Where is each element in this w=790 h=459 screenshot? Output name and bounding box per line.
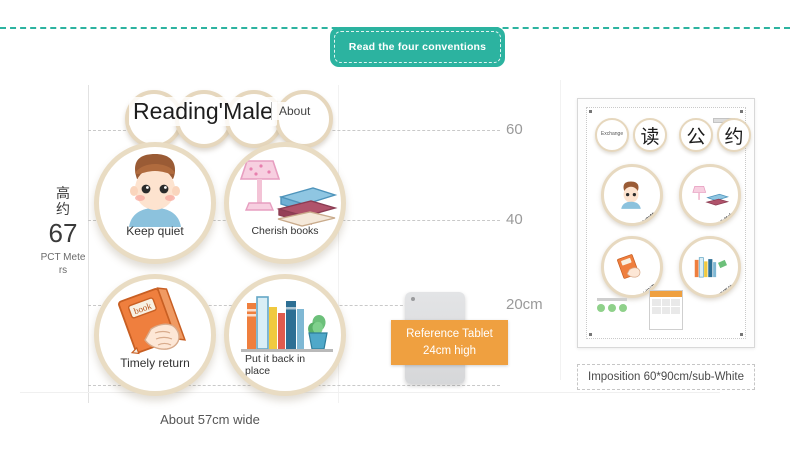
height-value: 67 [40,219,86,249]
poster-header-circle-3: 公 [679,118,713,152]
poster-footer-swatches [597,298,641,312]
thumbnail-cell [671,307,680,314]
poster-preview[interactable]: Exchange 读 公 约 保持安静 [577,98,755,348]
crop-mark-top-left [589,110,592,113]
bookshelf-plant-icon [229,285,341,359]
poster-title-band: Reading'Male About [95,88,335,136]
screenshot-root: Read the four conventions 60 40 20cm 高 约… [0,0,790,459]
badge-cherish-books[interactable]: Cherish books [224,142,346,264]
poster-badge-1: 保持安静 [601,164,663,226]
axis-tick-20: 20cm [506,296,543,313]
poster-header-circle-2: 读 [633,118,667,152]
panel-vertical-separator [560,80,561,380]
height-label-cn-1: 高 [40,185,86,201]
reference-tablet-badge: Reference Tablet 24cm high [391,320,508,365]
poster-caption: Imposition 60*90cm/sub-White [577,364,755,390]
boy-shushing-icon [610,175,652,215]
axis-tick-40: 40 [506,211,523,228]
height-measure-label: 高 约 67 PCT Meters [40,185,86,277]
badge-grid: Keep quiet Cherish books [92,142,352,392]
height-unit: PCT Meters [40,252,86,277]
height-label-cn-2: 约 [40,201,86,217]
chart-vertical-axis [88,85,89,403]
poster-badge-2: 爱惜书本 [679,164,741,226]
crop-mark-top-right [740,110,743,113]
poster-footer [597,290,747,330]
tablet-badge-line2: 24cm high [395,343,504,360]
swatch-row [597,304,641,312]
badge-put-back-in-place[interactable]: Put it back in place [224,274,346,396]
hand-holding-book-icon: book [99,285,211,359]
swatch-dot [608,304,616,312]
badge-caption: Timely return [99,357,211,371]
boy-shushing-icon [99,153,211,227]
swatch-bar [597,298,627,301]
thumbnail-cell [652,299,661,306]
thumbnail-cell [652,307,661,314]
poster-thumbnail-card [649,290,683,330]
width-caption: About 57cm wide [120,412,300,427]
chart-bottom-rule [20,392,720,393]
badge-caption: Keep quiet [99,225,211,239]
poster-header-circle-1: Exchange [595,118,629,152]
thumbnail-grid [650,297,682,316]
read-four-conventions-button[interactable]: Read the four conventions [330,27,505,67]
swatch-dot [619,304,627,312]
poster-sheet: Exchange 读 公 约 保持安静 [586,107,746,339]
hand-holding-book-icon [610,247,652,287]
thumbnail-cell [662,307,671,314]
lamp-and-books-icon [229,153,341,227]
bookshelf-plant-icon [688,247,730,287]
title-about-label: About [271,102,316,120]
poster-badge-4: 放回原位 [679,236,741,298]
crop-mark-bottom-right [740,333,743,336]
axis-tick-60: 60 [506,121,523,138]
tablet-badge-line1: Reference Tablet [395,326,504,343]
page-title: Reading'Male [129,97,277,126]
poster-header: Exchange 读 公 约 [593,114,739,158]
badge-timely-return[interactable]: book Timely return [94,274,216,396]
lamp-and-books-icon [688,175,730,215]
swatch-dot [597,304,605,312]
measurement-chart: 60 40 20cm 高 约 67 PCT Meters Reading'Mal… [0,80,560,440]
thumbnail-cell [662,299,671,306]
tablet-camera-icon [411,297,415,301]
badge-caption: Put it back in place [229,353,319,377]
read-button-label: Read the four conventions [349,41,486,53]
badge-caption: Cherish books [229,225,341,237]
poster-header-circle-4: 约 [717,118,751,152]
thumbnail-cell [671,299,680,306]
badge-keep-quiet[interactable]: Keep quiet [94,142,216,264]
crop-mark-bottom-left [589,333,592,336]
poster-badge-3: 及时归还 [601,236,663,298]
